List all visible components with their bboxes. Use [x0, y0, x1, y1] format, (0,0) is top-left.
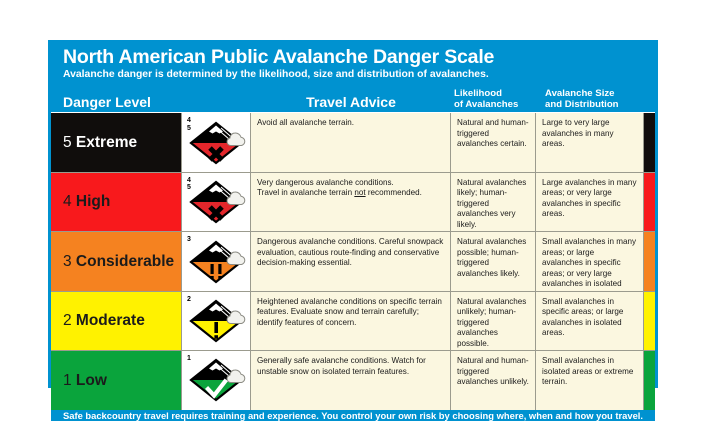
icon-level-number: 2	[187, 296, 191, 303]
icon-level-number: 1	[187, 355, 191, 362]
avalanche-size-cell: Small avalanches in many areas; or large…	[536, 232, 643, 290]
danger-level-label: 4 High	[63, 194, 110, 210]
danger-level-cell-moderate: 2 Moderate	[51, 292, 181, 350]
row-color-stripe	[643, 113, 655, 171]
column-header-travel-advice: Travel Advice	[251, 94, 451, 110]
travel-advice-cell: Heightened avalanche conditions on speci…	[251, 292, 451, 350]
travel-advice-cell: Avoid all avalanche terrain.	[251, 113, 451, 171]
danger-level-cell-low: 1 Low	[51, 351, 181, 409]
table-column-headers: Danger Level Travel Advice Likelihood of…	[51, 89, 655, 112]
danger-symbol-graphic	[184, 296, 248, 346]
danger-level-cell-considerable: 3 Considerable	[51, 232, 181, 290]
high-x-diamond-icon: 45	[181, 173, 251, 231]
danger-level-cell-high: 4 High	[51, 173, 181, 231]
column-header-danger-level: Danger Level	[51, 94, 251, 110]
column-header-likelihood: Likelihood of Avalanches	[451, 89, 541, 110]
column-header-size-line2: and Distribution	[545, 100, 655, 111]
icon-level-number: 45	[187, 177, 191, 192]
danger-symbol-graphic	[184, 355, 248, 405]
table-row: 2 Moderate2Heightened avalanche conditio…	[51, 292, 655, 351]
danger-level-label: 1 Low	[63, 373, 107, 389]
page-subtitle: Avalanche danger is determined by the li…	[63, 69, 643, 81]
likelihood-cell: Natural avalanches likely; human-trigger…	[451, 173, 536, 231]
row-color-stripe	[643, 173, 655, 231]
likelihood-cell: Natural avalanches unlikely; human-trigg…	[451, 292, 536, 350]
row-color-stripe	[643, 292, 655, 350]
danger-level-cell-extreme: 5 Extreme	[51, 113, 181, 171]
danger-symbol-graphic	[184, 177, 248, 227]
likelihood-cell: Natural and human-triggered avalanches c…	[451, 113, 536, 171]
column-header-likelihood-line2: of Avalanches	[454, 100, 541, 111]
footer-text: Safe backcountry travel requires trainin…	[63, 410, 643, 421]
column-header-avalanche-size: Avalanche Size and Distribution	[541, 89, 655, 110]
poster-header: North American Public Avalanche Danger S…	[51, 43, 655, 87]
danger-scale-table: 5 Extreme45Avoid all avalanche terrain.N…	[51, 112, 655, 409]
avalanche-size-cell: Small avalanches in specific areas; or l…	[536, 292, 643, 350]
considerable-double-exclamation-diamond-icon: 3	[181, 232, 251, 290]
travel-advice-cell: Dangerous avalanche conditions. Careful …	[251, 232, 451, 290]
table-row: 3 Considerable3Dangerous avalanche condi…	[51, 232, 655, 291]
avalanche-size-cell: Large avalanches in many areas; or very …	[536, 173, 643, 231]
danger-symbol-graphic	[184, 118, 248, 168]
low-checkmark-diamond-icon: 1	[181, 351, 251, 409]
icon-level-number: 45	[187, 117, 191, 132]
likelihood-cell: Natural avalanches possible; human-trigg…	[451, 232, 536, 290]
extreme-x-diamond-icon: 45	[181, 113, 251, 171]
row-color-stripe	[643, 232, 655, 290]
table-row: 1 Low1Generally safe avalanche condition…	[51, 351, 655, 409]
danger-level-label: 2 Moderate	[63, 313, 145, 329]
table-row: 5 Extreme45Avoid all avalanche terrain.N…	[51, 113, 655, 172]
icon-level-number: 3	[187, 236, 191, 243]
avalanche-danger-scale-poster: North American Public Avalanche Danger S…	[48, 40, 658, 388]
poster-footer: Safe backcountry travel requires trainin…	[51, 410, 655, 421]
danger-level-label: 3 Considerable	[63, 254, 174, 270]
danger-level-label: 5 Extreme	[63, 135, 137, 151]
travel-advice-cell: Generally safe avalanche conditions. Wat…	[251, 351, 451, 409]
danger-symbol-graphic	[184, 237, 248, 287]
page-title: North American Public Avalanche Danger S…	[63, 47, 643, 67]
row-color-stripe	[643, 351, 655, 409]
likelihood-cell: Natural and human-triggered avalanches u…	[451, 351, 536, 409]
moderate-exclamation-diamond-icon: 2	[181, 292, 251, 350]
screenshot-root: North American Public Avalanche Danger S…	[0, 0, 703, 426]
avalanche-size-cell: Large to very large avalanches in many a…	[536, 113, 643, 171]
travel-advice-cell: Very dangerous avalanche conditions.Trav…	[251, 173, 451, 231]
avalanche-size-cell: Small avalanches in isolated areas or ex…	[536, 351, 643, 409]
table-row: 4 High45Very dangerous avalanche conditi…	[51, 173, 655, 232]
